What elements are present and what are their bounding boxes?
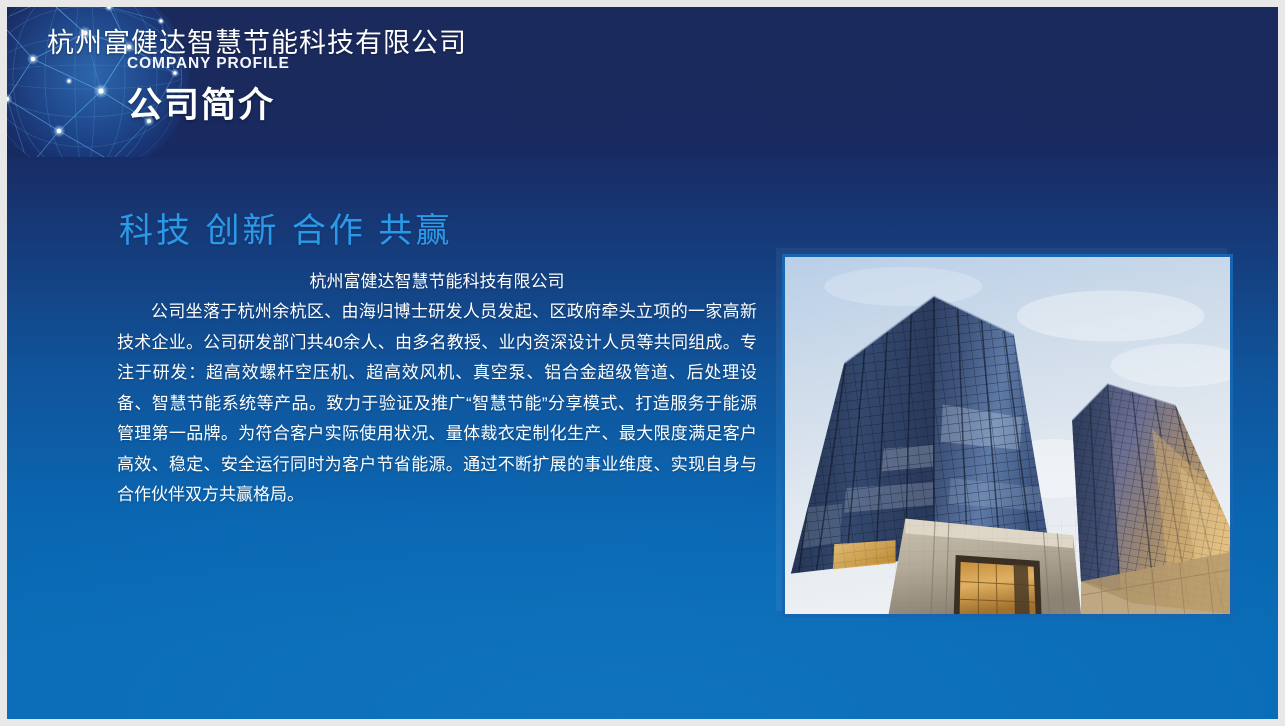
page-title: 公司简介	[127, 77, 275, 128]
building-photo	[782, 254, 1233, 617]
body-heading: 杭州富健达智慧节能科技有限公司	[117, 269, 757, 295]
header-section-label-en: COMPANY PROFILE	[127, 55, 290, 73]
body-paragraph: 公司坐落于杭州余杭区、由海归博士研发人员发起、区政府牵头立项的一家高新技术企业。…	[117, 297, 757, 511]
slide-frame: 杭州富健达智慧节能科技有限公司 COMPANY PROFILE 公司简介 科技 …	[7, 7, 1278, 719]
building-photo-svg	[785, 257, 1230, 614]
body-text-block: 杭州富健达智慧节能科技有限公司 公司坐落于杭州余杭区、由海归博士研发人员发起、区…	[117, 269, 757, 511]
slogan-text: 科技 创新 合作 共赢	[119, 203, 452, 252]
header-band: 杭州富健达智慧节能科技有限公司 COMPANY PROFILE 公司简介	[7, 7, 1278, 157]
